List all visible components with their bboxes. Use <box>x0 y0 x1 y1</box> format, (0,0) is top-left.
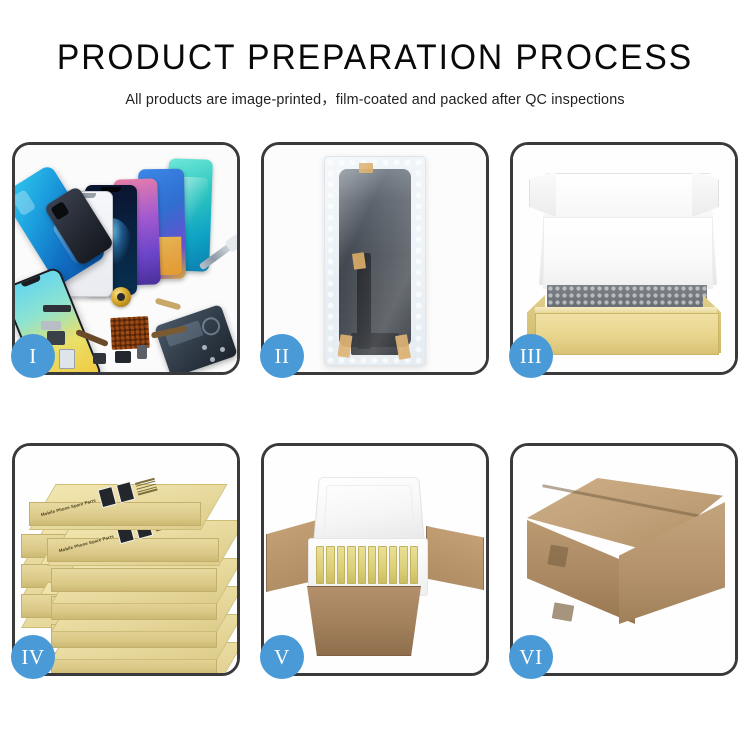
step-6-image <box>513 446 735 673</box>
box-label-lines-1-icon <box>135 478 158 495</box>
chip-f-icon <box>41 321 61 330</box>
gold-coil-icon <box>111 287 131 307</box>
bubble-wrap-bag-icon <box>324 156 426 366</box>
process-step-panel-2[interactable]: II <box>261 142 489 375</box>
process-step-grid: I II <box>12 142 738 676</box>
tape-strip-2-icon <box>352 252 366 270</box>
chip-e-icon <box>93 353 106 364</box>
foam-lid-right-flap-icon <box>692 171 719 217</box>
foam-lid-left-flap-icon <box>529 171 556 217</box>
kraft-tray-front-icon <box>535 313 719 355</box>
styrofoam-lid-icon <box>313 477 425 546</box>
process-step-panel-1[interactable]: I <box>12 142 240 375</box>
yellow-boxes-contents-icon <box>316 546 418 584</box>
carton-front-icon <box>302 586 426 656</box>
big-phone-notch-icon <box>21 275 41 287</box>
step-2-image <box>264 145 486 372</box>
phone-chassis-icon <box>154 304 237 372</box>
step-1-image <box>15 145 237 372</box>
chip-d-icon <box>137 345 147 359</box>
screw-2-icon <box>220 347 225 352</box>
step-badge-3: III <box>509 334 553 378</box>
carton-right-flap-icon <box>426 526 484 590</box>
screw-1-icon <box>210 357 215 362</box>
process-step-panel-3[interactable]: III <box>510 142 738 375</box>
wrapped-connector-icon <box>351 333 399 355</box>
white-foam-sheet-icon <box>543 217 713 289</box>
step-3-image <box>513 145 735 372</box>
step-4-image: Mobile Phone Spare Parts Mobile Phone Sp… <box>15 446 237 673</box>
step-badge-5: V <box>260 635 304 679</box>
box-label-screen-1b-icon <box>115 481 134 503</box>
phone-parts-scene <box>15 145 237 372</box>
chip-c-icon <box>115 351 131 363</box>
process-step-panel-6[interactable]: VI <box>510 443 738 676</box>
carton-styrofoam-scene <box>264 446 486 673</box>
page-header: PRODUCT PREPARATION PROCESS All products… <box>0 0 750 109</box>
page-subtitle: All products are image-printed，film-coat… <box>4 75 747 109</box>
carton-tape-1-icon <box>547 545 568 568</box>
step-badge-6: VI <box>509 635 553 679</box>
wrapped-screen-icon <box>339 169 411 347</box>
chip-b-icon <box>59 349 75 369</box>
open-box-scene <box>513 145 735 372</box>
box-label-screen-1a-icon <box>97 486 116 508</box>
process-step-panel-4[interactable]: Mobile Phone Spare Parts Mobile Phone Sp… <box>12 443 240 676</box>
flex-cable-3-icon <box>155 298 182 311</box>
step-badge-4: IV <box>11 635 55 679</box>
screw-3-icon <box>202 345 207 350</box>
sealed-carton-scene <box>513 446 735 673</box>
speaker-bar-icon <box>43 305 71 312</box>
step-badge-2: II <box>260 334 304 378</box>
tape-strip-3-icon <box>338 334 353 357</box>
tape-strip-1-icon <box>359 163 373 173</box>
bubble-wrap-scene <box>264 145 486 372</box>
stacked-boxes-scene: Mobile Phone Spare Parts Mobile Phone Sp… <box>15 446 237 673</box>
process-step-panel-5[interactable]: V <box>261 443 489 676</box>
step-badge-1: I <box>11 334 55 378</box>
carton-tape-2-icon <box>552 602 574 621</box>
step-5-image <box>264 446 486 673</box>
page-title: PRODUCT PREPARATION PROCESS <box>15 40 735 75</box>
